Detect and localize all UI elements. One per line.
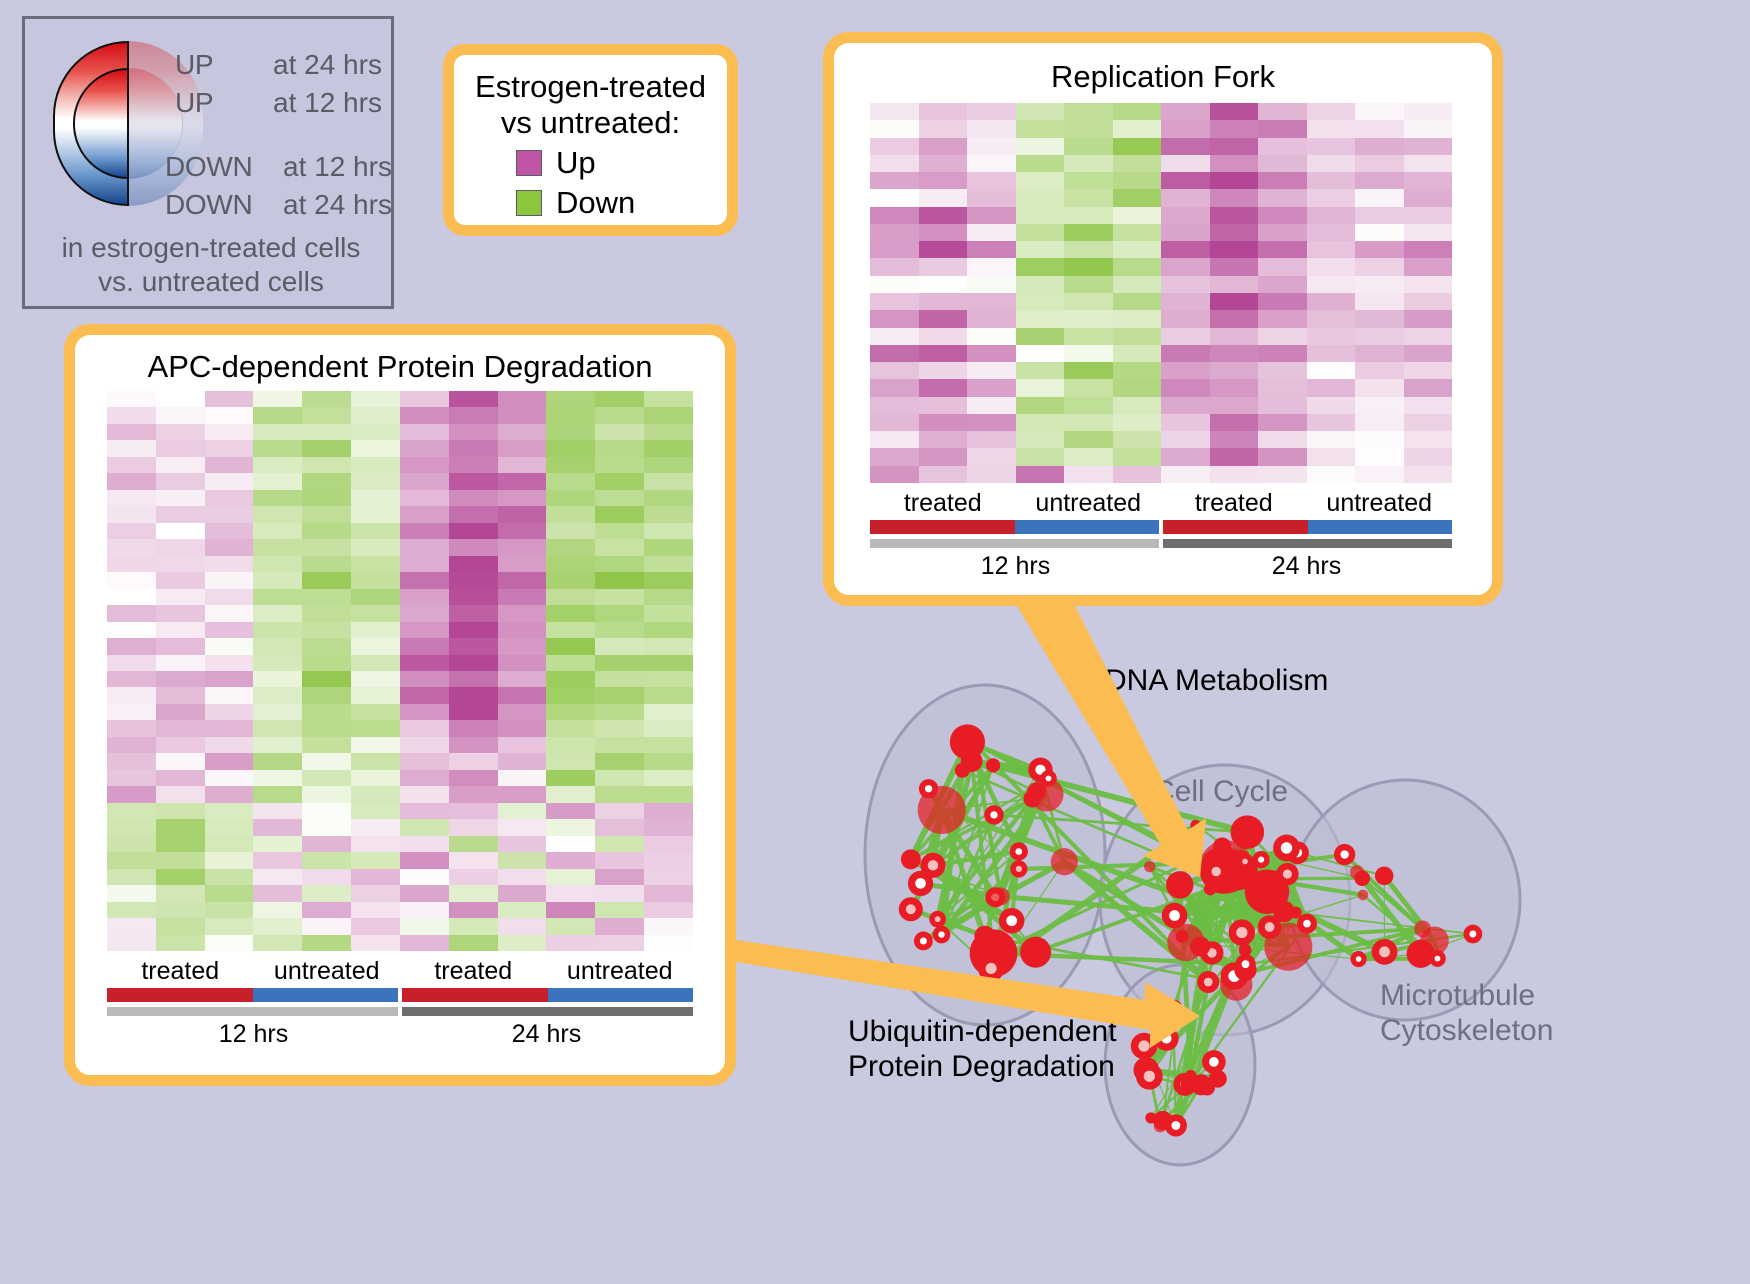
heatmap-cell (107, 473, 156, 489)
heatmap-cell (1210, 345, 1259, 362)
legend-label-up: Up (556, 145, 596, 181)
group-label-rf-2: treated (1161, 489, 1307, 518)
heatmap-cell (449, 424, 498, 440)
heatmap-cell (1404, 466, 1453, 483)
network-node (1375, 867, 1393, 885)
heatmap-cell (205, 605, 254, 621)
network-node (1181, 1077, 1197, 1093)
heatmap-cell (546, 523, 595, 539)
wheel-time-3: at 24 hrs (283, 189, 392, 221)
heatmap-cell (253, 407, 302, 423)
heatmap-cell (1064, 120, 1113, 137)
heatmap-cell (644, 902, 693, 918)
heatmap-cell (400, 687, 449, 703)
heatmap-cell (1016, 448, 1065, 465)
heatmap-cell (1258, 310, 1307, 327)
heatmap-cell (498, 935, 547, 951)
wheel-direction-0: UP (175, 49, 213, 81)
heatmap-cell (400, 440, 449, 456)
heatmap-cell (1161, 172, 1210, 189)
group-bar-apc-0 (107, 988, 253, 1002)
heatmap-cell (870, 241, 919, 258)
heatmap-cell (351, 720, 400, 736)
heatmap-cell (1404, 431, 1453, 448)
heatmap-cell (1016, 189, 1065, 206)
heatmap-cell (351, 852, 400, 868)
group-labels-apc: treated untreated treated untreated (107, 957, 693, 986)
network-node (974, 926, 995, 947)
heatmap-cell (1258, 276, 1307, 293)
heatmap-cell (449, 770, 498, 786)
heatmap-cell (919, 414, 968, 431)
heatmap-cell (351, 589, 400, 605)
heatmap-cell (595, 523, 644, 539)
heatmap-cell (1355, 466, 1404, 483)
heatmap-cell (1113, 103, 1162, 120)
heatmap-cell (919, 258, 968, 275)
heatmap-cell (870, 448, 919, 465)
network-node (1267, 870, 1284, 887)
heatmap-cell (107, 852, 156, 868)
heatmap-cell (1210, 466, 1259, 483)
heatmap-cell (967, 466, 1016, 483)
heatmap-cell (400, 655, 449, 671)
heatmap-cell (205, 852, 254, 868)
network-node-core (928, 860, 938, 870)
heatmap-cell (1210, 310, 1259, 327)
group-label-rf-3: untreated (1307, 489, 1453, 518)
heatmap-cell (644, 687, 693, 703)
heatmap-cell (1064, 207, 1113, 224)
heatmap-cell (205, 407, 254, 423)
heatmap-cell (1161, 397, 1210, 414)
heatmap-cell (644, 786, 693, 802)
heatmap-cell (107, 391, 156, 407)
heatmap-cell (253, 490, 302, 506)
heatmap-cell (156, 506, 205, 522)
heatmap-cell (1161, 345, 1210, 362)
heatmap-cell (967, 414, 1016, 431)
network-node-core (1469, 931, 1476, 938)
heatmap-cell (644, 407, 693, 423)
network-node (1023, 790, 1041, 808)
heatmap-cell (498, 753, 547, 769)
heatmap-cell (1016, 328, 1065, 345)
heatmap-cell (1210, 224, 1259, 241)
heatmap-cell (870, 120, 919, 137)
colorwheel-legend-box: UP at 24 hrs UP at 12 hrs DOWN at 12 hrs… (22, 16, 394, 309)
heatmap-cell (449, 869, 498, 885)
heatmap-cell (595, 720, 644, 736)
network-node (1144, 861, 1155, 872)
heatmap-cell (546, 605, 595, 621)
heatmap-cell (1307, 397, 1356, 414)
heatmap-cell (1161, 414, 1210, 431)
time-label-rf-0: 12 hrs (870, 552, 1161, 581)
heatmap-cell (870, 189, 919, 206)
heatmap-cell (1016, 397, 1065, 414)
heatmap-cell (351, 440, 400, 456)
heatmap-cell (1307, 189, 1356, 206)
heatmap-cell (302, 671, 351, 687)
heatmap-cell (1355, 189, 1404, 206)
heatmap-cell (1258, 258, 1307, 275)
heatmap-cell (351, 737, 400, 753)
heatmap-cell (107, 539, 156, 555)
heatmap-cell (546, 720, 595, 736)
heatmap-cell (546, 407, 595, 423)
heatmap-cell (449, 655, 498, 671)
heatmap-cell (919, 138, 968, 155)
heatmap-cell (1355, 241, 1404, 258)
heatmap-cell (400, 770, 449, 786)
group-labels-rf: treated untreated treated untreated (870, 489, 1452, 518)
heatmap-cell (253, 589, 302, 605)
heatmap-cell (351, 605, 400, 621)
heatmap-cell (1113, 362, 1162, 379)
heatmap-cell (967, 224, 1016, 241)
heatmap-cell (1064, 258, 1113, 275)
network-node-core (1209, 1057, 1219, 1067)
heatmap-cell (498, 852, 547, 868)
heatmap-cell (919, 224, 968, 241)
heatmap-cell (107, 523, 156, 539)
heatmap-replication-fork (870, 103, 1452, 483)
wheel-time-2: at 12 hrs (283, 151, 392, 183)
heatmap-cell (351, 539, 400, 555)
expression-legend-card: Estrogen-treated vs untreated: Up Down (443, 44, 738, 236)
heatmap-cell (546, 440, 595, 456)
heatmap-cell (1064, 362, 1113, 379)
heatmap-cell (546, 753, 595, 769)
network-node-core (1016, 866, 1022, 872)
heatmap-cell (400, 457, 449, 473)
heatmap-cell (1404, 172, 1453, 189)
network-node (1176, 930, 1189, 943)
heatmap-cell (546, 803, 595, 819)
heatmap-cell (498, 869, 547, 885)
heatmap-cell (107, 572, 156, 588)
heatmap-cell (919, 345, 968, 362)
heatmap-cell (919, 172, 968, 189)
time-label-apc-0: 12 hrs (107, 1020, 400, 1049)
heatmap-cell (351, 753, 400, 769)
heatmap-cell (449, 556, 498, 572)
heatmap-cell (1307, 328, 1356, 345)
heatmap-cell (1113, 466, 1162, 483)
heatmap-cell (595, 440, 644, 456)
heatmap-cell (449, 572, 498, 588)
heatmap-cell (870, 310, 919, 327)
heatmap-cell (1307, 414, 1356, 431)
heatmap-cell (1307, 103, 1356, 120)
heatmap-cell (1016, 276, 1065, 293)
heatmap-cell (400, 902, 449, 918)
heatmap-cell (351, 902, 400, 918)
network-node-core (1138, 1040, 1149, 1051)
network-node (1166, 871, 1193, 898)
heatmap-cell (595, 655, 644, 671)
heatmap-cell (919, 120, 968, 137)
heatmap-cell (107, 556, 156, 572)
heatmap-cell (967, 138, 1016, 155)
heatmap-cell (967, 397, 1016, 414)
network-node-core (1303, 920, 1311, 928)
heatmap-cell (498, 720, 547, 736)
heatmap-cell (595, 786, 644, 802)
heatmap-cell (449, 506, 498, 522)
heatmap-cell (1113, 328, 1162, 345)
heatmap-cell (644, 572, 693, 588)
heatmap-cell (1016, 241, 1065, 258)
heatmap-cell (644, 440, 693, 456)
heatmap-cell (644, 622, 693, 638)
heatmap-cell (156, 720, 205, 736)
heatmap-cell (351, 655, 400, 671)
time-color-bar-rf (870, 539, 1452, 548)
heatmap-cell (156, 391, 205, 407)
heatmap-cell (1161, 276, 1210, 293)
heatmap-cell (644, 737, 693, 753)
time-bar-apc-1 (402, 1007, 693, 1016)
heatmap-cell (400, 885, 449, 901)
heatmap-cell (967, 448, 1016, 465)
heatmap-cell (1355, 155, 1404, 172)
heatmap-cell (156, 687, 205, 703)
heatmap-cell (156, 457, 205, 473)
axis-replication-fork: treated untreated treated untreated 12 h… (870, 489, 1452, 581)
heatmap-cell (449, 704, 498, 720)
network-node-core (1265, 922, 1275, 932)
heatmap-cell (870, 155, 919, 172)
heatmap-cell (351, 819, 400, 835)
heatmap-cell (156, 638, 205, 654)
heatmap-cell (400, 753, 449, 769)
heatmap-cell (1210, 448, 1259, 465)
heatmap-cell (498, 457, 547, 473)
heatmap-cell (644, 638, 693, 654)
heatmap-cell (1064, 414, 1113, 431)
heatmap-cell (1404, 276, 1453, 293)
heatmap-cell (870, 431, 919, 448)
heatmap-cell (546, 539, 595, 555)
network-node-core (1283, 870, 1292, 879)
heatmap-cell (1210, 138, 1259, 155)
heatmap-cell (205, 869, 254, 885)
heatmap-cell (1113, 172, 1162, 189)
heatmap-cell (351, 490, 400, 506)
heatmap-cell (1064, 310, 1113, 327)
heatmap-cell (351, 473, 400, 489)
heatmap-cell (546, 424, 595, 440)
cluster-label-ub-line1: Ubiquitin-dependent (848, 1014, 1117, 1049)
heatmap-cell (498, 589, 547, 605)
heatmap-cell (498, 671, 547, 687)
heatmap-cell (1161, 103, 1210, 120)
legend-item-up: Up (516, 145, 727, 181)
cluster-label-mt-line1: Microtubule (1380, 978, 1553, 1013)
heatmap-cell (253, 737, 302, 753)
heatmap-cell (156, 852, 205, 868)
group-bar-apc-3 (548, 988, 694, 1002)
heatmap-cell (156, 556, 205, 572)
heatmap-cell (644, 457, 693, 473)
heatmap-cell (1064, 466, 1113, 483)
heatmap-cell (1258, 293, 1307, 310)
heatmap-cell (253, 539, 302, 555)
heatmap-cell (1307, 258, 1356, 275)
heatmap-cell (870, 397, 919, 414)
heatmap-cell (253, 638, 302, 654)
heatmap-cell (919, 103, 968, 120)
heatmap-cell (156, 655, 205, 671)
heatmap-cell (351, 836, 400, 852)
network-node (1190, 820, 1201, 831)
heatmap-cell (449, 687, 498, 703)
heatmap-cell (595, 803, 644, 819)
heatmap-cell (1258, 362, 1307, 379)
heatmap-cell (1113, 293, 1162, 310)
group-bar-apc-1 (253, 988, 399, 1002)
heatmap-cell (1016, 224, 1065, 241)
heatmap-cell (449, 803, 498, 819)
heatmap-cell (595, 885, 644, 901)
heatmap-cell (400, 836, 449, 852)
heatmap-cell (205, 638, 254, 654)
heatmap-cell (253, 556, 302, 572)
heatmap-cell (1307, 466, 1356, 483)
heatmap-cell (498, 638, 547, 654)
heatmap-cell (253, 720, 302, 736)
heatmap-cell (595, 671, 644, 687)
heatmap-cell (351, 638, 400, 654)
heatmap-cell (156, 490, 205, 506)
heatmap-cell (302, 836, 351, 852)
heatmap-cell (595, 424, 644, 440)
heatmap-cell (253, 622, 302, 638)
heatmap-cell (205, 836, 254, 852)
heatmap-cell (1307, 120, 1356, 137)
heatmap-cell (302, 720, 351, 736)
colorwheel-footer-line1: in estrogen-treated cells (25, 231, 397, 265)
heatmap-cell (498, 836, 547, 852)
heatmap-cell (919, 241, 968, 258)
heatmap-cell (644, 556, 693, 572)
network-node-core (925, 785, 932, 792)
heatmap-cell (400, 869, 449, 885)
heatmap-cell (107, 720, 156, 736)
group-bar-rf-3 (1308, 520, 1453, 534)
heatmap-cell (546, 572, 595, 588)
heatmap-cell (870, 224, 919, 241)
heatmap-cell (498, 506, 547, 522)
heatmap-cell (400, 852, 449, 868)
heatmap-cell (351, 935, 400, 951)
heatmap-cell (498, 704, 547, 720)
wheel-direction-2: DOWN (165, 151, 252, 183)
down-swatch-icon (516, 190, 542, 216)
heatmap-cell (400, 605, 449, 621)
heatmap-cell (400, 407, 449, 423)
heatmap-cell (400, 704, 449, 720)
heatmap-cell (1113, 189, 1162, 206)
heatmap-cell (107, 490, 156, 506)
heatmap-cell (1404, 207, 1453, 224)
heatmap-cell (449, 589, 498, 605)
colorwheel-footer-line2: vs. untreated cells (25, 265, 397, 299)
heatmap-cell (1016, 103, 1065, 120)
heatmap-cell (400, 786, 449, 802)
network-node (1204, 883, 1216, 895)
heatmap-cell (156, 539, 205, 555)
heatmap-cell (595, 935, 644, 951)
heatmap-cell (205, 391, 254, 407)
heatmap-cell (967, 431, 1016, 448)
heatmap-cell (546, 770, 595, 786)
network-node-core (1340, 850, 1348, 858)
heatmap-cell (302, 869, 351, 885)
heatmap-cell (1404, 241, 1453, 258)
heatmap-cell (595, 539, 644, 555)
heatmap-cell (546, 622, 595, 638)
heatmap-cell (107, 770, 156, 786)
heatmap-cell (1404, 328, 1453, 345)
network-node (955, 763, 970, 778)
heatmap-cell (400, 490, 449, 506)
heatmap-cell (107, 885, 156, 901)
panel-title-replication-fork: Replication Fork (834, 59, 1492, 95)
heatmap-cell (253, 605, 302, 621)
heatmap-cell (870, 258, 919, 275)
heatmap-cell (351, 407, 400, 423)
heatmap-cell (546, 638, 595, 654)
heatmap-cell (1161, 120, 1210, 137)
heatmap-cell (967, 379, 1016, 396)
heatmap-cell (302, 473, 351, 489)
heatmap-cell (351, 770, 400, 786)
heatmap-cell (253, 704, 302, 720)
heatmap-cell (351, 523, 400, 539)
heatmap-cell (498, 424, 547, 440)
heatmap-cell (1307, 241, 1356, 258)
heatmap-cell (644, 803, 693, 819)
group-bar-apc-2 (402, 988, 548, 1002)
heatmap-cell (870, 276, 919, 293)
heatmap-cell (1307, 138, 1356, 155)
heatmap-cell (1016, 379, 1065, 396)
heatmap-cell (1064, 155, 1113, 172)
heatmap-cell (498, 391, 547, 407)
heatmap-cell (1064, 189, 1113, 206)
heatmap-cell (546, 786, 595, 802)
heatmap-cell (205, 572, 254, 588)
heatmap-cell (400, 671, 449, 687)
heatmap-cell (546, 589, 595, 605)
cluster-label-ubiquitin-degradation: Ubiquitin-dependent Protein Degradation (848, 1014, 1117, 1085)
heatmap-cell (870, 328, 919, 345)
heatmap-cell (205, 687, 254, 703)
heatmap-cell (351, 786, 400, 802)
heatmap-cell (644, 770, 693, 786)
heatmap-cell (302, 638, 351, 654)
heatmap-cell (1064, 241, 1113, 258)
heatmap-cell (1404, 345, 1453, 362)
heatmap-cell (1355, 258, 1404, 275)
heatmap-cell (302, 556, 351, 572)
heatmap-cell (967, 172, 1016, 189)
heatmap-cell (1064, 276, 1113, 293)
heatmap-cell (1161, 241, 1210, 258)
